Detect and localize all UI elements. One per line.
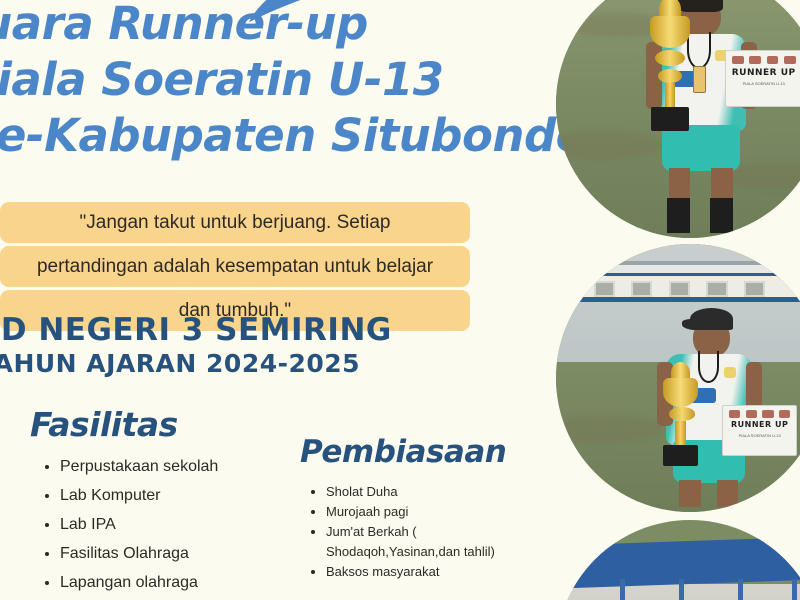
building-window	[631, 281, 652, 298]
poster-headline: Juara Runner-up Piala Soeratin U-13 Se-K…	[0, 0, 584, 164]
pembiasaan-heading: Pembiasaan	[300, 432, 550, 472]
trophy-cup	[650, 16, 690, 48]
school-year: TAHUN AJARAN 2024-2025	[0, 348, 392, 380]
photo-trophy-boy-cap: RUNNER UP PIALA SOERATIN U-13	[556, 244, 800, 512]
list-item: Lab Komputer	[60, 481, 290, 510]
quote-line-2: pertandingan adalah kesempatan untuk bel…	[0, 246, 470, 287]
player-sock	[667, 198, 690, 233]
trophy-stem	[665, 83, 676, 110]
list-item: Murojaah pagi	[326, 502, 550, 522]
certificate-subtitle: PIALA SOERATIN U-13	[726, 81, 800, 86]
building-window	[594, 281, 615, 298]
quote-line-1: "Jangan takut untuk berjuang. Setiap	[0, 202, 470, 243]
player-shorts	[662, 125, 740, 171]
school-building-background	[556, 244, 800, 362]
photo-school-canopy	[556, 520, 800, 600]
player-sock	[710, 198, 733, 233]
list-item: Baksos masyarakat	[326, 562, 550, 582]
headline-line-3: Se-Kabupaten Situbondo	[0, 108, 584, 164]
headline-line-2: Piala Soeratin U-13	[0, 52, 584, 108]
canopy-roof	[556, 536, 800, 589]
runner-up-certificate: RUNNER UP PIALA SOERATIN U-13	[725, 50, 800, 106]
poster-canvas: Juara Runner-up Piala Soeratin U-13 Se-K…	[0, 0, 800, 600]
canopy-post	[738, 579, 743, 600]
certificate-logos	[729, 410, 790, 418]
pembiasaan-list: Sholat Duha Murojaah pagi Jum'at Berkah …	[300, 482, 550, 582]
building-window	[744, 281, 765, 298]
list-item: Lapangan olahraga	[60, 568, 290, 597]
school-identity-block: SD NEGERI 3 SEMIRING TAHUN AJARAN 2024-2…	[0, 312, 392, 380]
list-item: Lab IPA	[60, 510, 290, 539]
player-leg	[717, 480, 738, 507]
player-hair	[678, 0, 724, 12]
list-item: Fasilitas Olahraga	[60, 539, 290, 568]
list-item: Jum'at Berkah ( Shodaqoh,Yasinan,dan tah…	[326, 522, 550, 562]
jersey-badge	[724, 367, 736, 378]
trophy-stem	[675, 421, 686, 448]
certificate-title: RUNNER UP	[726, 68, 800, 78]
trophy-tier	[658, 69, 682, 82]
trophy-base	[663, 445, 698, 466]
photo-trophy-boy-field: RUNNER UP PIALA SOERATIN U-13	[556, 0, 800, 238]
section-fasilitas: Fasilitas Perpustakaan sekolah Lab Kompu…	[30, 404, 290, 600]
trophy-base	[651, 107, 689, 131]
fasilitas-list: Perpustakaan sekolah Lab Komputer Lab IP…	[30, 452, 290, 600]
player-leg	[679, 480, 700, 507]
building-window	[669, 281, 690, 298]
certificate-title: RUNNER UP	[723, 420, 796, 429]
runner-up-certificate: RUNNER UP PIALA SOERATIN U-13	[722, 405, 797, 456]
headline-line-1: Juara Runner-up	[0, 0, 584, 52]
certificate-subtitle: PIALA SOERATIN U-13	[723, 433, 796, 438]
list-item: Sholat Duha	[326, 482, 550, 502]
trophy-tier	[669, 407, 696, 420]
canopy-post	[620, 579, 625, 600]
canopy-post	[792, 579, 797, 600]
list-item: Perpustakaan sekolah	[60, 452, 290, 481]
canopy-post	[679, 579, 684, 600]
player-id-card	[693, 66, 706, 93]
fasilitas-heading: Fasilitas	[30, 404, 290, 446]
section-pembiasaan: Pembiasaan Sholat Duha Murojaah pagi Jum…	[300, 432, 550, 582]
certificate-logos	[732, 56, 796, 65]
cap-brim	[682, 319, 709, 330]
school-name: SD NEGERI 3 SEMIRING	[0, 312, 392, 348]
building-window	[706, 281, 727, 298]
